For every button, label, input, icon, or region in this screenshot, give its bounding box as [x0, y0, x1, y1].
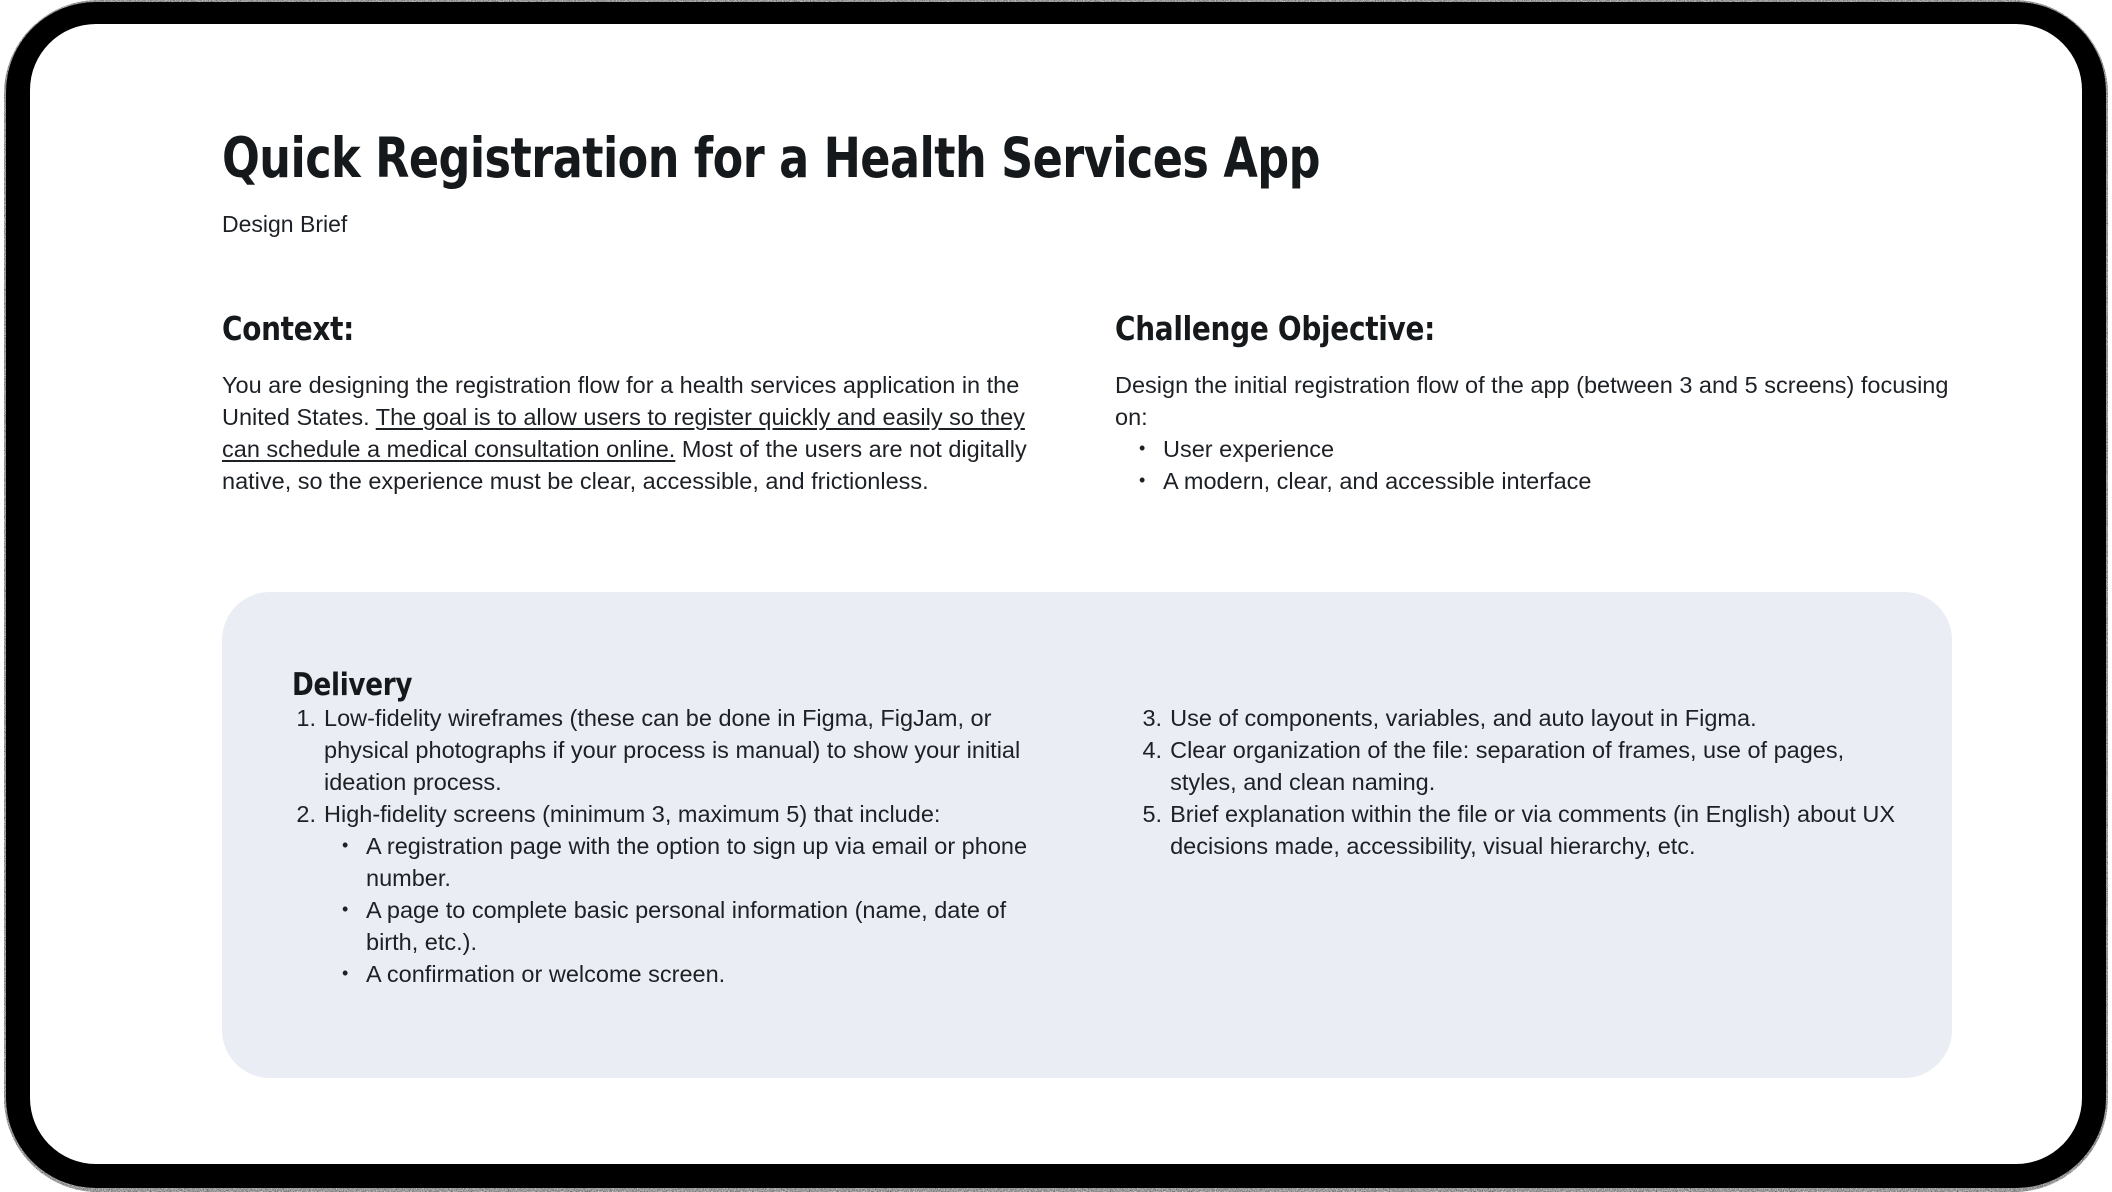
- context-heading: Context:: [222, 309, 1002, 349]
- list-item: A page to complete basic personal inform…: [342, 894, 1056, 958]
- context-paragraph: You are designing the registration flow …: [222, 369, 1052, 497]
- list-item: A confirmation or welcome screen.: [342, 958, 1056, 990]
- document-card: Quick Registration for a Health Services…: [30, 24, 2082, 1164]
- list-item-number: 3.: [1128, 702, 1162, 734]
- list-item: User experience: [1139, 433, 1955, 465]
- delivery-left-list: 1.Low-fidelity wireframes (these can be …: [282, 702, 1056, 990]
- list-item-text: Brief explanation within the file or via…: [1170, 801, 1895, 859]
- list-item-text: High-fidelity screens (minimum 3, maximu…: [324, 801, 940, 827]
- objective-bullet-list: User experience A modern, clear, and acc…: [1115, 433, 1955, 497]
- list-item-text: Use of components, variables, and auto l…: [1170, 705, 1757, 731]
- list-item-number: 5.: [1128, 798, 1162, 830]
- list-item-number: 2.: [282, 798, 316, 830]
- delivery-panel: Delivery 1.Low-fidelity wireframes (thes…: [222, 592, 1952, 1078]
- objective-intro: Design the initial registration flow of …: [1115, 369, 1955, 433]
- delivery-right-list: 3.Use of components, variables, and auto…: [1128, 702, 1912, 862]
- context-section: Context: You are designing the registrat…: [222, 309, 1052, 497]
- delivery-sub-list: A registration page with the option to s…: [324, 830, 1056, 990]
- list-item-text: Low-fidelity wireframes (these can be do…: [324, 705, 1020, 795]
- objective-section: Challenge Objective: Design the initial …: [1115, 309, 1955, 497]
- list-item: A modern, clear, and accessible interfac…: [1139, 465, 1955, 497]
- page-subtitle: Design Brief: [222, 209, 347, 239]
- list-item-text: Clear organization of the file: separati…: [1170, 737, 1844, 795]
- delivery-right-column: 3.Use of components, variables, and auto…: [1098, 702, 1912, 990]
- delivery-columns: 1.Low-fidelity wireframes (these can be …: [282, 702, 1912, 990]
- objective-heading: Challenge Objective:: [1115, 309, 1905, 349]
- delivery-left-column: 1.Low-fidelity wireframes (these can be …: [282, 702, 1056, 990]
- list-item: A registration page with the option to s…: [342, 830, 1056, 894]
- list-item-number: 4.: [1128, 734, 1162, 766]
- list-item: 1.Low-fidelity wireframes (these can be …: [282, 702, 1056, 798]
- list-item: 3.Use of components, variables, and auto…: [1128, 702, 1912, 734]
- list-item-number: 1.: [282, 702, 316, 734]
- list-item: 4.Clear organization of the file: separa…: [1128, 734, 1912, 798]
- page-title: Quick Registration for a Health Services…: [222, 127, 1320, 189]
- list-item: 5.Brief explanation within the file or v…: [1128, 798, 1912, 862]
- list-item: 2.High-fidelity screens (minimum 3, maxi…: [282, 798, 1056, 990]
- delivery-heading: Delivery: [292, 666, 412, 704]
